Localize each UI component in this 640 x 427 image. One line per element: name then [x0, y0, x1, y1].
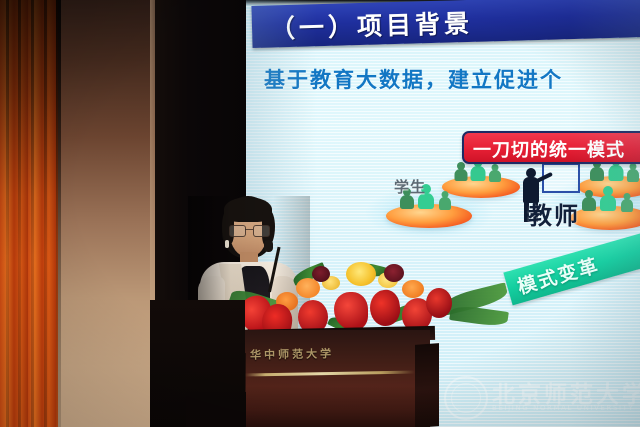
podium-institution-text: 华中师范大学 [250, 345, 334, 362]
earring [225, 240, 229, 248]
student-figure [582, 190, 596, 210]
flower-red [368, 288, 403, 328]
university-watermark: 北京师范大学 BEIJING NORMAL UNIVERSITY [442, 372, 638, 422]
flower-dark [384, 264, 404, 282]
university-seal-icon [444, 376, 488, 420]
stage-curtain [0, 0, 60, 427]
flower-orange [402, 280, 424, 298]
flower-yellow [346, 262, 376, 286]
student-figure [621, 193, 633, 211]
slide-title: （一）项目背景 [270, 4, 474, 46]
flower-red [426, 288, 452, 318]
foreground-shadow-lower [186, 392, 246, 427]
slide-title-bar: （一）项目背景 [251, 0, 640, 48]
student-figure [627, 163, 639, 181]
watermark-english-name: BEIJING NORMAL UNIVERSITY [492, 404, 634, 412]
wall-panel [58, 0, 158, 427]
student-figure [600, 186, 616, 210]
diagram-label-student: 学生 [394, 176, 426, 197]
student-figure [489, 164, 501, 181]
diagram-label-teacher: 教师 [528, 196, 580, 231]
flower-red [334, 292, 368, 330]
green-banner-text: 模式变革 [514, 251, 602, 300]
screenshot-root: 学生 教师 模式变革 一刀切的统一模式 基于教育大数据，建立促进个 （一）项目背… [0, 0, 640, 427]
slide-subtitle: 基于教育大数据，建立促进个 [264, 64, 563, 94]
red-badge: 一刀切的统一模式 [462, 131, 640, 164]
glasses-icon [229, 225, 269, 235]
flower-dark [312, 266, 330, 282]
podium-right-face [415, 343, 439, 427]
red-badge-text: 一刀切的统一模式 [473, 136, 625, 162]
wall-edge-shadow [56, 0, 61, 427]
green-banner: 模式变革 [503, 229, 640, 306]
student-figure [454, 162, 467, 180]
student-figure [439, 191, 451, 209]
